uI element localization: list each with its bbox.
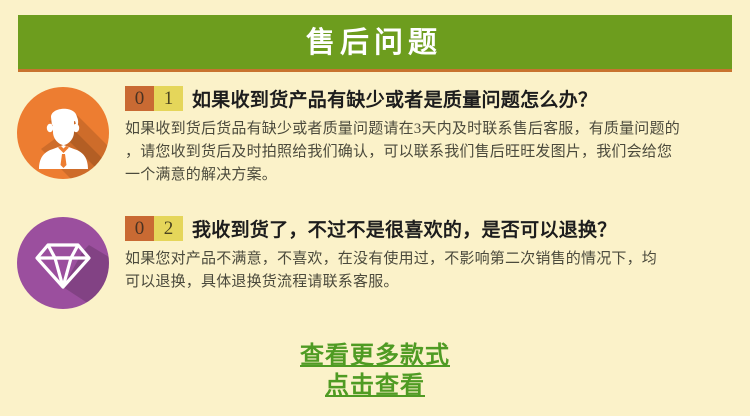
badge-digit-second-1: 1 (154, 86, 183, 111)
faq-answer-line: 如果您对产品不满意，不喜欢，在没有使用过，不影响第二次销售的情况下，均 (125, 248, 738, 271)
faq-answer-line: 一个满意的解决方案。 (125, 164, 738, 187)
click-to-view-link[interactable]: 点击查看 (0, 370, 750, 400)
faq-question-line-2: 0 2 我收到货了，不过不是很喜欢的，是否可以退换？ (125, 215, 738, 241)
diamond-icon (17, 217, 109, 309)
faq-question-1: 如果收到货产品有缺少或者是质量问题怎么办？ (192, 85, 597, 112)
view-more-styles-link[interactable]: 查看更多款式 (0, 340, 750, 370)
faq-answer-line: 可以退换，具体退换货流程请联系客服。 (125, 271, 738, 294)
user-avatar-icon (17, 87, 109, 179)
page-title: 售后问题 (306, 28, 444, 57)
faq-answer-2: 如果您对产品不满意，不喜欢，在没有使用过，不影响第二次销售的情况下，均 可以退换… (125, 248, 738, 294)
badge-digit-first-1: 0 (125, 86, 154, 111)
faq-content-1: 0 1 如果收到货产品有缺少或者是质量问题怎么办？ 如果收到货后货品有缺少或者质… (125, 85, 750, 187)
faq-item-2: 0 2 我收到货了，不过不是很喜欢的，是否可以退换？ 如果您对产品不满意，不喜欢… (0, 215, 750, 309)
badge-digit-first-2: 0 (125, 216, 154, 241)
page-header-banner: 售后问题 (18, 15, 732, 72)
faq-answer-line: ，请您收到货后及时拍照给我们确认，可以联系我们售后旺旺发图片，我们会给您 (125, 141, 738, 164)
faq-item-1: 0 1 如果收到货产品有缺少或者是质量问题怎么办？ 如果收到货后货品有缺少或者质… (0, 85, 750, 187)
faq-question-2: 我收到货了，不过不是很喜欢的，是否可以退换？ (192, 215, 617, 242)
faq-number-badge-2: 0 2 (125, 216, 183, 241)
after-sales-faq-page: 售后问题 (0, 0, 750, 416)
faq-answer-1: 如果收到货后货品有缺少或者质量问题请在3天内及时联系售后客服，有质量问题的 ，请… (125, 118, 738, 187)
faq-number-badge-1: 0 1 (125, 86, 183, 111)
faq-icon-container-1 (0, 85, 125, 179)
badge-digit-second-2: 2 (154, 216, 183, 241)
faq-icon-container-2 (0, 215, 125, 309)
faq-content-2: 0 2 我收到货了，不过不是很喜欢的，是否可以退换？ 如果您对产品不满意，不喜欢… (125, 215, 750, 294)
cta-links: 查看更多款式 点击查看 (0, 340, 750, 400)
faq-answer-line: 如果收到货后货品有缺少或者质量问题请在3天内及时联系售后客服，有质量问题的 (125, 118, 738, 141)
faq-question-line-1: 0 1 如果收到货产品有缺少或者是质量问题怎么办？ (125, 85, 738, 111)
